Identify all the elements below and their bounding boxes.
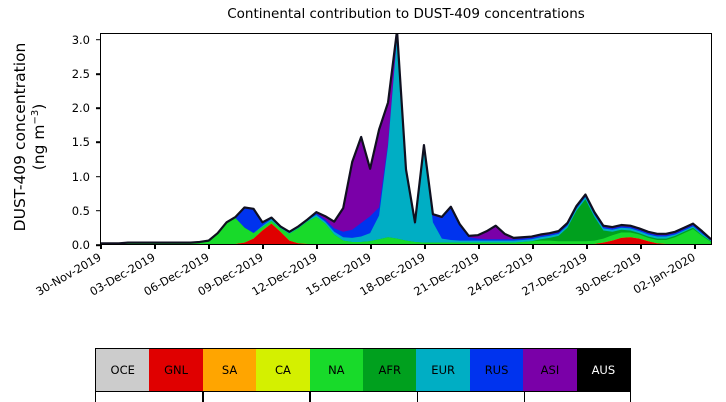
x-tick-mark: [586, 245, 588, 249]
legend-item-eur[interactable]: EUR: [416, 349, 469, 391]
y-tick-label: 1.0: [56, 170, 90, 184]
x-tick-mark: [478, 245, 480, 249]
x-tick-mark: [316, 245, 318, 249]
x-tick-mark: [424, 245, 426, 249]
legend-item-label: SA: [222, 363, 237, 377]
x-tick-mark: [694, 245, 696, 249]
legend-item-aus[interactable]: AUS: [577, 349, 630, 391]
x-tick-mark: [640, 245, 642, 249]
legend-item-label: RUS: [485, 363, 509, 377]
legend-tick: [417, 392, 418, 402]
legend-item-oce[interactable]: OCE: [96, 349, 149, 391]
y-tick-label: 0.5: [56, 204, 90, 218]
y-tick-label: 0.0: [56, 238, 90, 252]
legend-item-asi[interactable]: ASI: [523, 349, 576, 391]
legend-item-afr[interactable]: AFR: [363, 349, 416, 391]
legend-tick: [95, 392, 96, 402]
y-tick-label: 1.5: [56, 135, 90, 149]
legend-item-label: OCE: [111, 363, 135, 377]
legend-tick: [524, 392, 525, 402]
y-axis-label-unit-suffix: ): [30, 104, 48, 110]
legend-item-label: EUR: [431, 363, 455, 377]
legend-item-label: CA: [275, 363, 291, 377]
legend-item-na[interactable]: NA: [310, 349, 363, 391]
legend-item-sa[interactable]: SA: [203, 349, 256, 391]
x-tick-mark: [154, 245, 156, 249]
stacked-area-series: [101, 34, 711, 244]
legend-tick: [309, 392, 310, 402]
x-tick-mark: [262, 245, 264, 249]
y-tick-label: 2.0: [56, 101, 90, 115]
x-tick-mark: [370, 245, 372, 249]
plot-area: [100, 33, 712, 245]
legend-item-label: GNL: [164, 363, 188, 377]
area-series-eur: [101, 37, 711, 244]
legend-item-label: AUS: [592, 363, 616, 377]
y-axis-label-line1: DUST-409 concentration: [11, 43, 29, 232]
legend-tick: [202, 392, 203, 402]
legend-item-gnl[interactable]: GNL: [149, 349, 202, 391]
legend-item-label: NA: [328, 363, 344, 377]
y-tick-label: 3.0: [56, 33, 90, 47]
x-tick-mark: [208, 245, 210, 249]
x-tick-mark: [532, 245, 534, 249]
x-tick-mark: [100, 245, 102, 249]
y-axis-label-unit-prefix: (ng m: [30, 125, 48, 171]
chart-title: Continental contribution to DUST-409 con…: [100, 6, 712, 22]
continent-legend: OCEGNLSACANAAFREURRUSASIAUS: [95, 348, 631, 392]
chart-page: Continental contribution to DUST-409 con…: [0, 0, 726, 402]
legend-tick: [630, 392, 631, 402]
y-tick-label: 2.5: [56, 67, 90, 81]
y-axis-label-exponent: −3: [30, 110, 41, 125]
legend-item-label: AFR: [378, 363, 400, 377]
legend-bottom-ticks: [95, 392, 631, 402]
legend-item-label: ASI: [541, 363, 560, 377]
legend-item-ca[interactable]: CA: [256, 349, 309, 391]
legend-item-rus[interactable]: RUS: [470, 349, 523, 391]
